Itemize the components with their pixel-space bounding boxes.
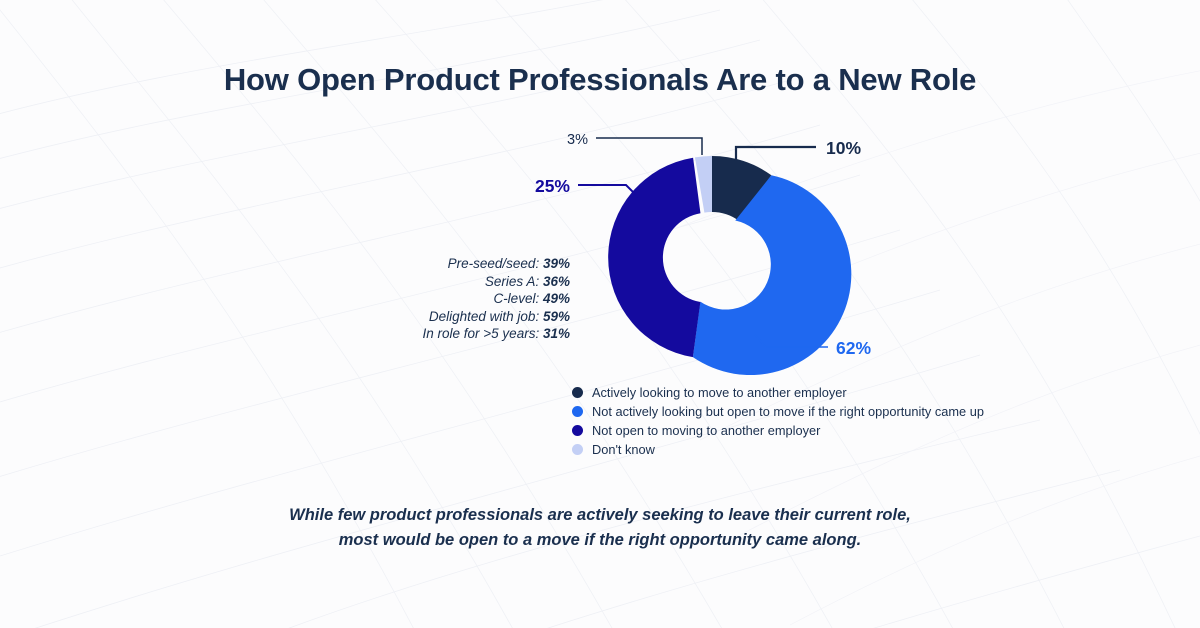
legend-swatch-icon <box>572 406 583 417</box>
legend-item-label: Don't know <box>592 442 655 457</box>
breakdown-value: 31% <box>543 326 570 341</box>
callout-value-62: 62% <box>836 338 871 358</box>
breakdown-value: 36% <box>543 274 570 289</box>
donut-slice-not-open <box>608 158 700 357</box>
breakdown-label: In role for >5 years: <box>423 326 540 341</box>
callout-leader-3 <box>596 138 702 155</box>
caption-line-1: While few product professionals are acti… <box>0 503 1200 528</box>
breakdown-row: Pre-seed/seed: 39% <box>330 255 570 273</box>
breakdown-value: 49% <box>543 291 570 306</box>
legend-swatch-icon <box>572 425 583 436</box>
callout-leader-10 <box>736 147 816 161</box>
callout-value-3: 3% <box>567 132 588 148</box>
legend-swatch-icon <box>572 387 583 398</box>
breakdown-row: C-level: 49% <box>330 290 570 308</box>
legend-item-not-actively-looking: Not actively looking but open to move if… <box>572 402 1092 421</box>
legend-swatch-icon <box>572 444 583 455</box>
page-title: How Open Product Professionals Are to a … <box>0 62 1200 98</box>
breakdown-row: In role for >5 years: 31% <box>330 325 570 343</box>
breakdown-value: 39% <box>543 256 570 271</box>
breakdown-list: Pre-seed/seed: 39% Series A: 36% C-level… <box>330 255 570 343</box>
breakdown-label: Delighted with job: <box>429 309 539 324</box>
caption-line-2: most would be open to a move if the righ… <box>0 528 1200 553</box>
breakdown-label: C-level: <box>493 291 539 306</box>
callout-leader-25 <box>578 185 638 197</box>
legend-item-label: Not actively looking but open to move if… <box>592 404 984 419</box>
callout-value-25: 25% <box>535 176 570 196</box>
breakdown-row: Delighted with job: 59% <box>330 308 570 326</box>
chart-caption: While few product professionals are acti… <box>0 503 1200 553</box>
breakdown-value: 59% <box>543 309 570 324</box>
legend-item-label: Not open to moving to another employer <box>592 423 820 438</box>
breakdown-label: Series A: <box>485 274 539 289</box>
breakdown-label: Pre-seed/seed: <box>448 256 540 271</box>
callout-value-10: 10% <box>826 138 861 158</box>
legend-item-label: Actively looking to move to another empl… <box>592 385 847 400</box>
chart-legend: Actively looking to move to another empl… <box>572 383 1092 459</box>
legend-item-actively-looking: Actively looking to move to another empl… <box>572 383 1092 402</box>
breakdown-row: Series A: 36% <box>330 273 570 291</box>
legend-item-dont-know: Don't know <box>572 440 1092 459</box>
legend-item-not-open: Not open to moving to another employer <box>572 421 1092 440</box>
